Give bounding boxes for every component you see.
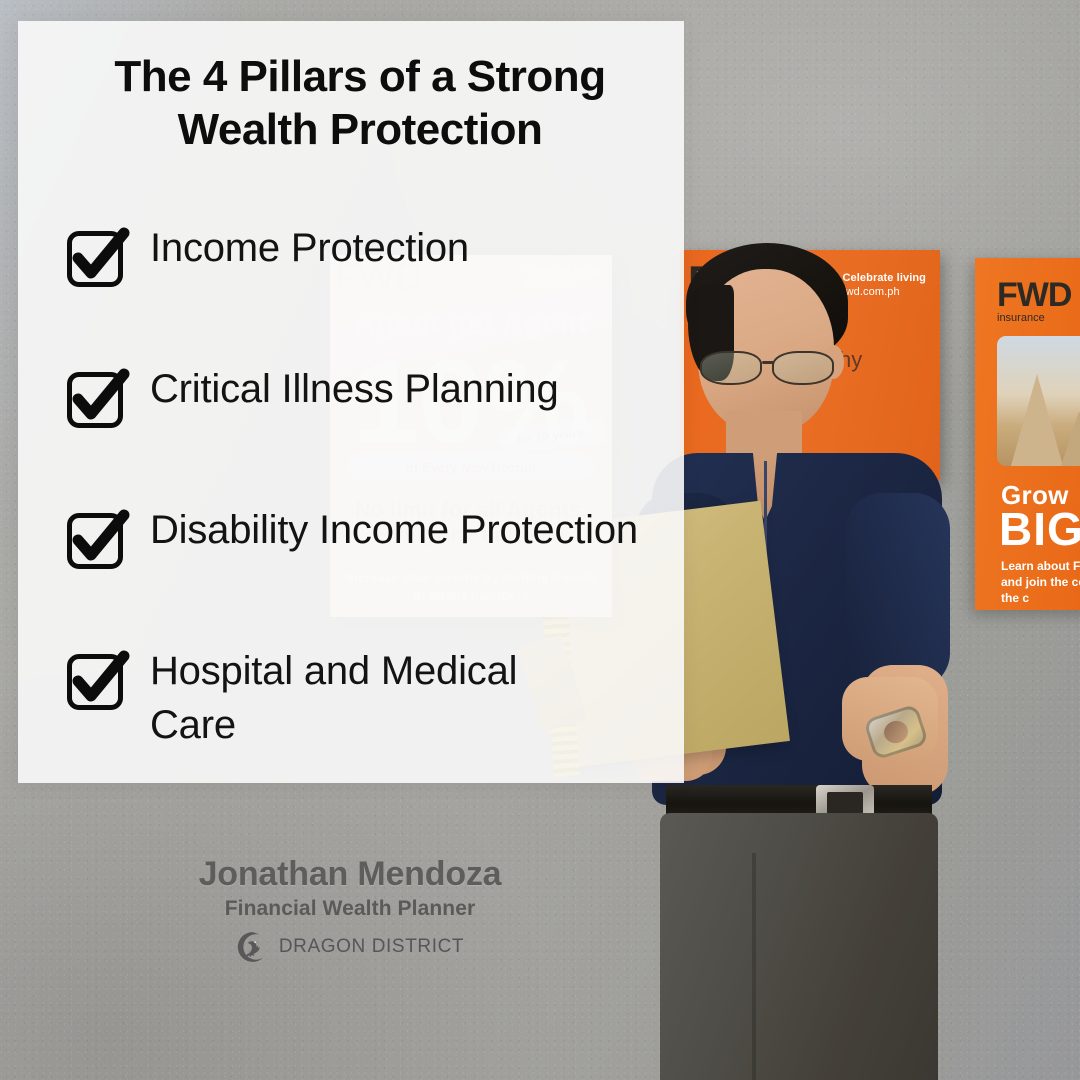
checkbox-checked-icon[interactable] (64, 507, 128, 571)
page-title: The 4 Pillars of a Strong Wealth Protect… (60, 51, 660, 157)
checkmark-icon (64, 225, 128, 289)
lens-left (700, 351, 762, 385)
list-item[interactable]: Disability Income Protection (64, 503, 674, 571)
list-item-label: Disability Income Protection (150, 503, 638, 557)
checkmark-icon (64, 366, 128, 430)
rock-shape-2 (1061, 411, 1080, 466)
info-panel: The 4 Pillars of a Strong Wealth Protect… (18, 21, 684, 783)
dragon-circle-logo-icon (236, 930, 270, 964)
list-item-label: Income Protection (150, 221, 469, 275)
checkbox-checked-icon[interactable] (64, 225, 128, 289)
pillars-checklist: Income Protection Critical Illness Plann… (64, 221, 674, 753)
gray-trousers (660, 813, 938, 1080)
social-media-graphic: FWD insurance Celebrate living fwd.com.p… (0, 0, 1080, 1080)
checkbox-checked-icon[interactable] (64, 648, 128, 712)
brand-name: DRAGON DISTRICT (279, 936, 464, 958)
eyeglasses (696, 351, 846, 385)
list-item[interactable]: Hospital and Medical Care (64, 644, 674, 753)
checkmark-icon (64, 648, 128, 712)
lens-right (772, 351, 834, 385)
footer-branding: Jonathan Mendoza Financial Wealth Planne… (0, 855, 700, 964)
agent-name: Jonathan Mendoza (0, 855, 700, 894)
list-item-label: Critical Illness Planning (150, 362, 559, 416)
sleeve-right (846, 493, 950, 689)
agent-role: Financial Wealth Planner (0, 897, 700, 921)
checkmark-icon (64, 507, 128, 571)
list-item-label: Hospital and Medical Care (150, 644, 570, 753)
checkbox-checked-icon[interactable] (64, 366, 128, 430)
glasses-bridge (762, 361, 774, 364)
list-item[interactable]: Income Protection (64, 221, 674, 289)
brand-lockup: DRAGON DISTRICT (0, 930, 700, 964)
list-item[interactable]: Critical Illness Planning (64, 362, 674, 430)
